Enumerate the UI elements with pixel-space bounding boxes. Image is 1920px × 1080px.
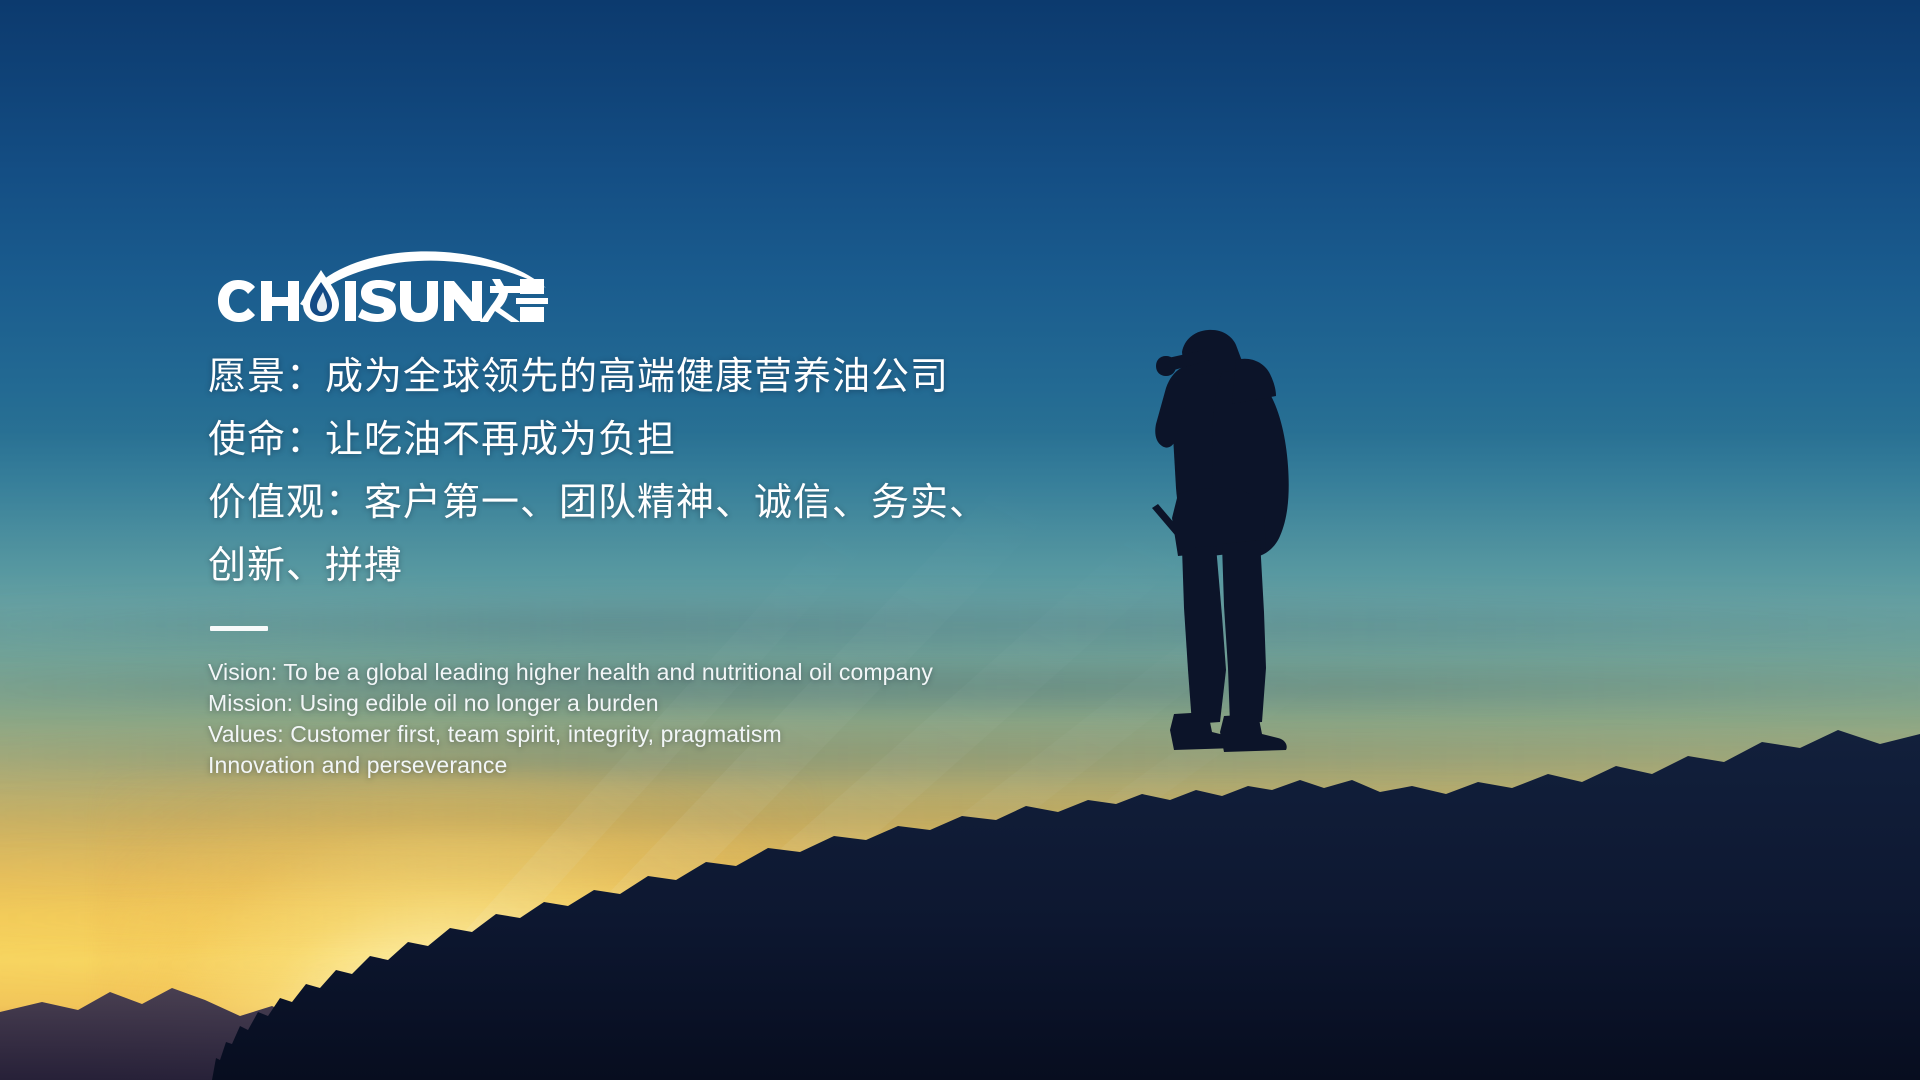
brand-logo[interactable] xyxy=(208,246,548,324)
statement-chinese: 愿景：成为全球领先的高端健康营养油公司 使命：让吃油不再成为负担 价值观：客户第… xyxy=(208,346,1208,598)
statement-english: Vision: To be a global leading higher he… xyxy=(208,657,1208,781)
values-line-cn-cont: 创新、拼搏 xyxy=(208,535,1208,598)
slide-content: 愿景：成为全球领先的高端健康营养油公司 使命：让吃油不再成为负担 价值观：客户第… xyxy=(208,246,1208,781)
slide-canvas: 愿景：成为全球领先的高端健康营养油公司 使命：让吃油不再成为负担 价值观：客户第… xyxy=(0,0,1920,1080)
values-line-en: Values: Customer first, team spirit, int… xyxy=(208,719,1208,750)
mission-line-cn: 使命：让吃油不再成为负担 xyxy=(208,409,1208,472)
vision-line-en: Vision: To be a global leading higher he… xyxy=(208,657,1208,688)
section-divider xyxy=(210,626,268,631)
values-line-en-cont: Innovation and perseverance xyxy=(208,750,1208,781)
values-line-cn: 价值观：客户第一、团队精神、诚信、务实、 xyxy=(208,472,1208,535)
vision-line-cn: 愿景：成为全球领先的高端健康营养油公司 xyxy=(208,346,1208,409)
mission-line-en: Mission: Using edible oil no longer a bu… xyxy=(208,688,1208,719)
